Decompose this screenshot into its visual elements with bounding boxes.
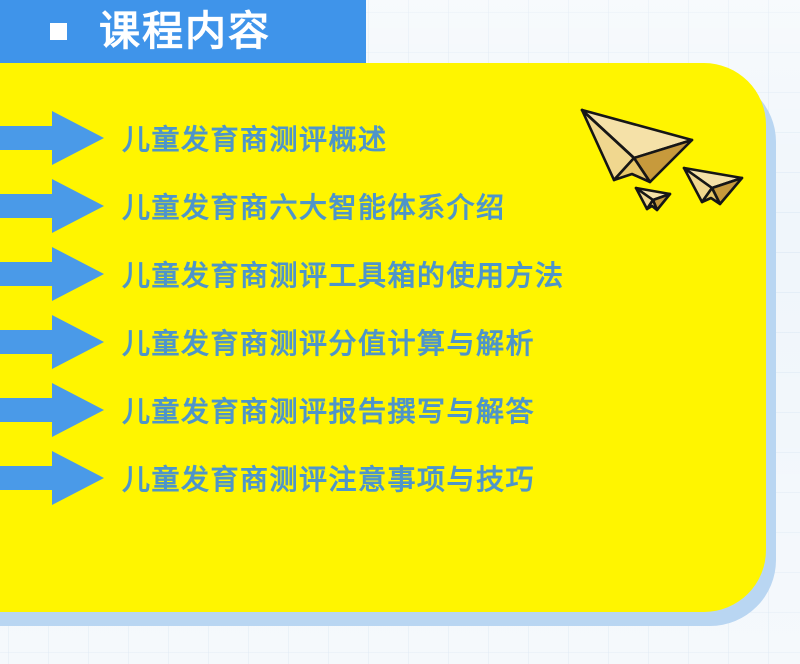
square-bullet-icon	[50, 23, 67, 40]
list-item[interactable]: 儿童发育商六大智能体系介绍	[0, 172, 800, 240]
slide-canvas: 课程内容 儿童发育商测评概述 儿童发育商六大智能体系介绍	[0, 0, 800, 664]
list-item-label: 儿童发育商测评注意事项与技巧	[122, 458, 535, 498]
course-outline-list: 儿童发育商测评概述 儿童发育商六大智能体系介绍 儿童发育商测评工具箱的使用方法	[0, 104, 800, 512]
list-item-label: 儿童发育商六大智能体系介绍	[122, 186, 506, 226]
arrow-right-icon	[0, 111, 106, 165]
list-item-label: 儿童发育商测评分值计算与解析	[122, 322, 535, 362]
arrow-right-icon	[0, 383, 106, 437]
list-item-label: 儿童发育商测评报告撰写与解答	[122, 390, 535, 430]
list-item-label: 儿童发育商测评工具箱的使用方法	[122, 254, 565, 294]
list-item[interactable]: 儿童发育商测评报告撰写与解答	[0, 376, 800, 444]
arrow-right-icon	[0, 315, 106, 369]
list-item-label: 儿童发育商测评概述	[122, 118, 388, 158]
list-item[interactable]: 儿童发育商测评工具箱的使用方法	[0, 240, 800, 308]
list-item[interactable]: 儿童发育商测评注意事项与技巧	[0, 444, 800, 512]
arrow-right-icon	[0, 179, 106, 233]
arrow-right-icon	[0, 247, 106, 301]
header-bar: 课程内容	[0, 0, 366, 63]
list-item[interactable]: 儿童发育商测评分值计算与解析	[0, 308, 800, 376]
list-item[interactable]: 儿童发育商测评概述	[0, 104, 800, 172]
page-title: 课程内容	[99, 11, 271, 52]
arrow-right-icon	[0, 451, 106, 505]
